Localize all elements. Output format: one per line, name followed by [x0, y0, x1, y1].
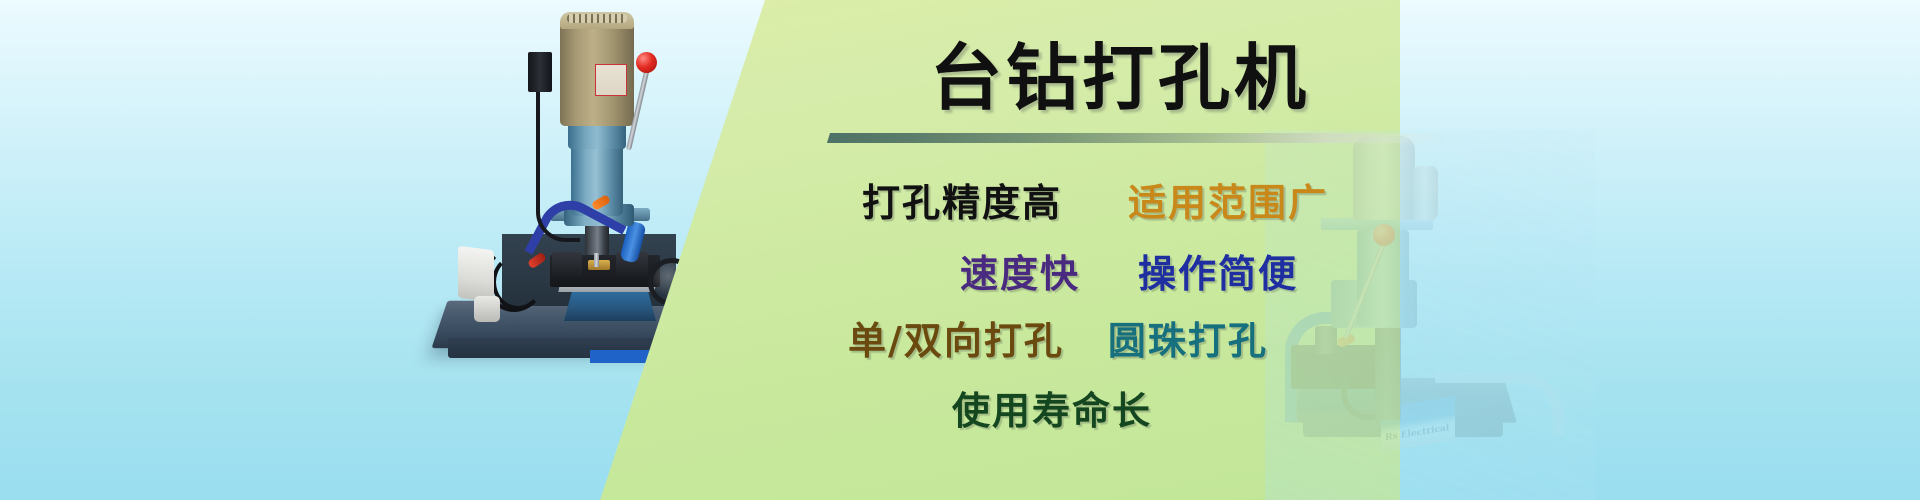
feature-item-fast-speed: 速度快 [960, 243, 1080, 298]
feature-row-4: 使用寿命长 [952, 380, 1152, 435]
feature-row-2: 速度快 操作简便 [960, 243, 1298, 298]
feature-item-ball-drilling: 圆珠打孔 [1108, 310, 1268, 365]
feature-row-1: 打孔精度高 适用范围广 [862, 172, 1328, 227]
product-banner: Rs Electrical 台钻打孔机 打孔精度高 适用范围广 速度快 操作简便 [0, 0, 1920, 500]
feature-item-wide-range: 适用范围广 [1128, 172, 1328, 227]
feature-item-single-double-drilling: 单/双向打孔 [848, 310, 1064, 365]
feature-row-3: 单/双向打孔 圆珠打孔 [848, 310, 1268, 365]
feature-item-long-lifespan: 使用寿命长 [952, 380, 1152, 435]
feature-list: 打孔精度高 适用范围广 速度快 操作简便 单/双向打孔 圆珠打孔 使用寿命长 [0, 0, 1920, 500]
feature-item-precision: 打孔精度高 [862, 172, 1062, 227]
feature-item-easy-operation: 操作简便 [1138, 243, 1298, 298]
